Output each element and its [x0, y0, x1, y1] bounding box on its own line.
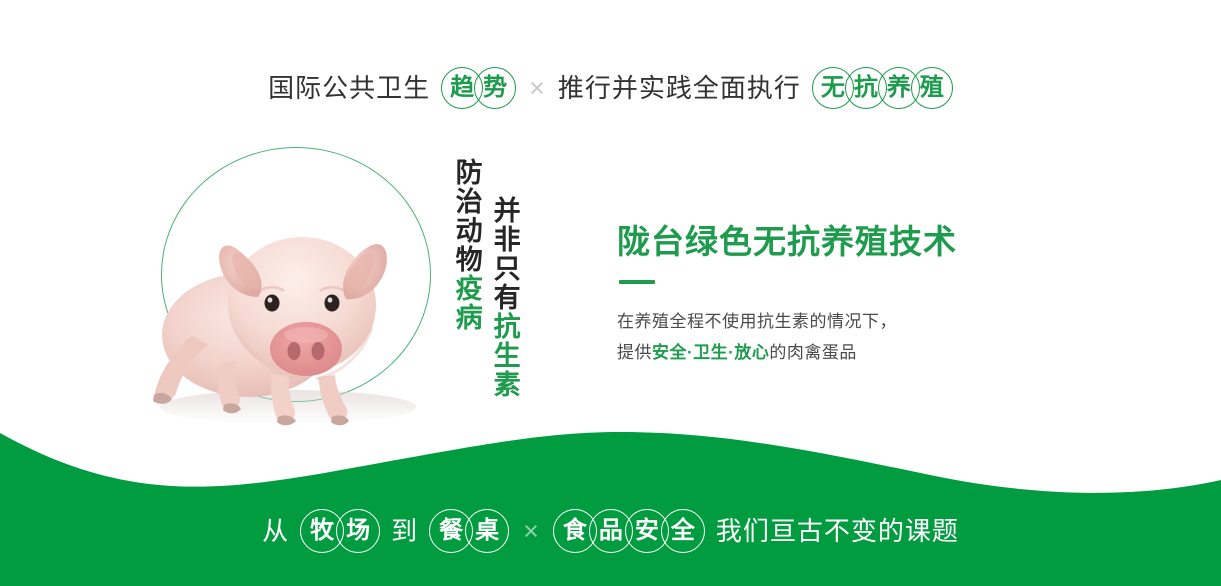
footer-cross-separator-icon: ×: [523, 518, 539, 545]
header-trail-badge-group: 无 抗 养 殖: [812, 67, 953, 109]
header-badge-shi: 势: [474, 67, 516, 109]
header-badge-zhi: 殖: [911, 67, 953, 109]
piglet-photo: [120, 185, 460, 435]
description-line-2-prefix: 提供: [617, 343, 652, 362]
vertical-slogan-1-dark: 防治动物: [452, 158, 482, 274]
header-lead-badge-group: 趋 势: [441, 67, 516, 109]
vertical-slogan-1: 防治动物疫病: [452, 158, 481, 332]
footer-badge-group-1: 牧 场: [300, 509, 380, 553]
description-highlight: 安全·卫生·放心: [652, 343, 769, 362]
vertical-slogan-2-green: 抗生素: [490, 312, 520, 399]
description-line-2-suffix: 的肉禽蛋品: [769, 343, 857, 362]
footer-badge-chang: 场: [336, 509, 380, 553]
vertical-slogan-2: 并非只有抗生素: [490, 196, 519, 399]
header-cross-separator-icon: ×: [529, 75, 545, 102]
footer-slogan-bar: 从 牧 场 到 餐 桌 × 食 品 安 全 我们亘古不变的课题: [0, 500, 1221, 562]
main-copy-block: 陇台绿色无抗养殖技术 在养殖全程不使用抗生素的情况下， 提供安全·卫生·放心的肉…: [617, 222, 1037, 368]
vertical-slogan-2-dark: 并非只有: [490, 196, 520, 312]
header-mid-text: 推行并实践全面执行: [558, 75, 801, 101]
header-lead-text: 国际公共卫生: [268, 75, 430, 101]
footer-badge-zhuo: 桌: [465, 509, 509, 553]
description-line-1: 在养殖全程不使用抗生素的情况下，: [617, 312, 897, 331]
title-underline-rule: [619, 280, 655, 284]
footer-badge-group-3: 食 品 安 全: [553, 509, 705, 553]
footer-badge-group-2: 餐 桌: [429, 509, 509, 553]
main-title: 陇台绿色无抗养殖技术: [617, 222, 1037, 262]
footer-badge-quan: 全: [661, 509, 705, 553]
vertical-slogan-1-green: 疫病: [452, 274, 482, 332]
poster-canvas: 国际公共卫生 趋 势 × 推行并实践全面执行 无 抗 养 殖: [0, 0, 1221, 586]
footer-word-1: 从: [262, 518, 289, 544]
footer-tail-text: 我们亘古不变的课题: [716, 518, 959, 544]
header-slogan-bar: 国际公共卫生 趋 势 × 推行并实践全面执行 无 抗 养 殖: [0, 62, 1221, 114]
footer-word-2: 到: [391, 518, 418, 544]
main-description: 在养殖全程不使用抗生素的情况下， 提供安全·卫生·放心的肉禽蛋品: [617, 306, 1037, 369]
